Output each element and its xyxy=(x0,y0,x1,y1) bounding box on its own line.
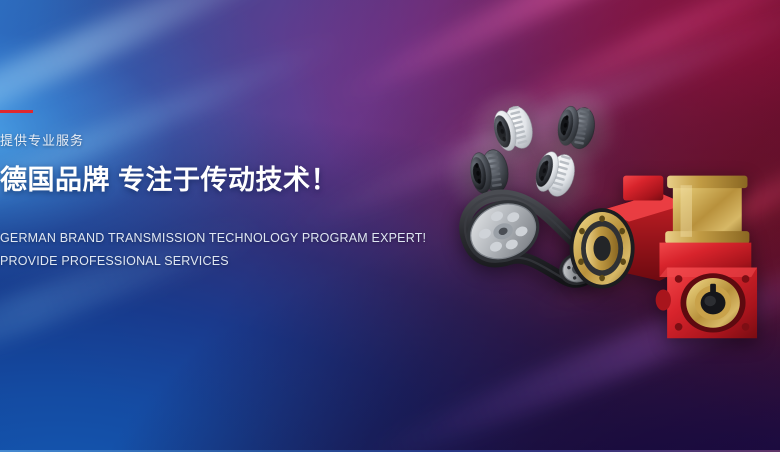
accent-rule xyxy=(0,110,33,113)
subtitle-block: GERMAN BRAND TRANSMISSION TECHNOLOGY PRO… xyxy=(0,227,420,272)
subtitle-line-1: GERMAN BRAND TRANSMISSION TECHNOLOGY PRO… xyxy=(0,227,420,249)
right-angle-gearbox-group xyxy=(560,160,780,357)
hero-banner: 提供专业服务 德国品牌 专注于传动技术！ GERMAN BRAND TRANSM… xyxy=(0,0,780,452)
eyebrow-text: 提供专业服务 xyxy=(0,134,420,147)
hero-copy-block: 提供专业服务 德国品牌 专注于传动技术！ GERMAN BRAND TRANSM… xyxy=(0,110,420,272)
page-title: 德国品牌 专注于传动技术！ xyxy=(0,165,420,196)
subtitle-line-2: PROVIDE PROFESSIONAL SERVICES xyxy=(0,250,420,272)
